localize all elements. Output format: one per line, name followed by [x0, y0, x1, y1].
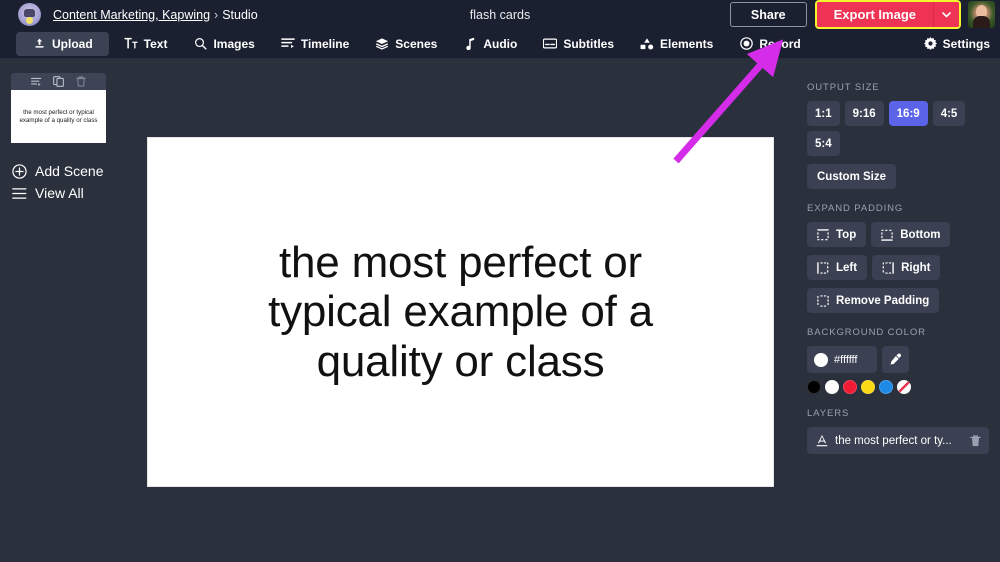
- padding-left-icon: [817, 262, 829, 274]
- record-icon: [739, 37, 753, 51]
- kapwing-studio-app: Content Marketing, Kapwing›Studio flash …: [0, 0, 1000, 562]
- padding-left-button[interactable]: Left: [807, 255, 867, 280]
- canvas-area: the most perfect or typical example of a…: [123, 60, 797, 562]
- swatch-red[interactable]: [843, 380, 857, 394]
- breadcrumb-separator: ›: [214, 8, 218, 22]
- plus-circle-icon: [12, 164, 27, 179]
- ratio-4-5[interactable]: 4:5: [933, 101, 966, 126]
- padding-row-3: Remove Padding: [807, 288, 1000, 313]
- export-image-group[interactable]: Export Image: [815, 0, 961, 29]
- custom-size-row: Custom Size: [807, 164, 1000, 189]
- canvas-text-layer[interactable]: the most perfect or typical example of a…: [241, 238, 681, 386]
- padding-bottom-icon: [881, 229, 893, 241]
- editor-canvas[interactable]: the most perfect or typical example of a…: [148, 138, 773, 486]
- scene-settings-icon[interactable]: [31, 76, 42, 87]
- scene-card[interactable]: the most perfect or typical example of a…: [11, 73, 106, 143]
- tool-elements-label: Elements: [660, 37, 713, 51]
- top-bar: Content Marketing, Kapwing›Studio flash …: [0, 0, 1000, 29]
- tool-text[interactable]: Text: [113, 32, 179, 56]
- ratio-9-16[interactable]: 9:16: [845, 101, 884, 126]
- scene-card-toolbar: [11, 73, 106, 90]
- shapes-icon: [640, 37, 654, 51]
- right-properties-panel: Output Size 1:1 9:16 16:9 4:5 5:4 Custom…: [797, 60, 1000, 562]
- eyedropper-button[interactable]: [882, 346, 909, 373]
- output-size-label: Output Size: [807, 82, 1000, 93]
- layers-label: Layers: [807, 408, 1000, 419]
- color-swatch-list: [807, 380, 1000, 394]
- settings-button[interactable]: Settings: [924, 37, 990, 51]
- padding-right-button[interactable]: Right: [872, 255, 940, 280]
- padding-row-2: Left Right: [807, 255, 1000, 280]
- add-scene-button[interactable]: Add Scene: [12, 163, 104, 179]
- layer-item[interactable]: the most perfect or ty...: [807, 427, 989, 454]
- padding-right-label: Right: [901, 262, 930, 274]
- padding-top-label: Top: [836, 229, 856, 241]
- tool-timeline[interactable]: Timeline: [270, 32, 360, 56]
- main-toolbar: Upload Text Images Timeline Scenes: [0, 29, 1000, 59]
- timeline-icon: [281, 37, 295, 51]
- breadcrumb: Content Marketing, Kapwing›Studio: [53, 8, 258, 22]
- music-note-icon: [463, 37, 477, 51]
- search-icon: [193, 37, 207, 51]
- tool-record[interactable]: Record: [728, 32, 811, 56]
- tool-record-label: Record: [759, 37, 800, 51]
- background-color-input[interactable]: #ffffff: [807, 346, 877, 373]
- ratio-1-1[interactable]: 1:1: [807, 101, 840, 126]
- tool-subtitles-label: Subtitles: [563, 37, 614, 51]
- trash-icon[interactable]: [75, 76, 86, 87]
- padding-right-icon: [882, 262, 894, 274]
- eyedropper-icon: [889, 353, 902, 366]
- scene-thumbnail-text: the most perfect or typical example of a…: [13, 109, 104, 125]
- expand-padding-label: Expand Padding: [807, 203, 1000, 214]
- ratio-5-4[interactable]: 5:4: [807, 131, 840, 156]
- share-button[interactable]: Share: [730, 2, 807, 27]
- upload-icon: [32, 37, 46, 51]
- background-color-controls: #ffffff: [807, 346, 1000, 373]
- padding-bottom-label: Bottom: [900, 229, 940, 241]
- export-image-button[interactable]: Export Image: [817, 2, 933, 27]
- tool-audio-label: Audio: [483, 37, 517, 51]
- tool-upload-label: Upload: [52, 37, 93, 51]
- layer-item-name: the most perfect or ty...: [835, 435, 962, 447]
- subtitles-icon: [543, 37, 557, 51]
- user-avatar[interactable]: [968, 1, 995, 28]
- swatch-blue[interactable]: [879, 380, 893, 394]
- swatch-white[interactable]: [825, 380, 839, 394]
- left-scenes-panel: the most perfect or typical example of a…: [0, 60, 123, 562]
- gear-icon: [924, 37, 937, 50]
- tool-timeline-label: Timeline: [301, 37, 349, 51]
- output-size-ratios: 1:1 9:16 16:9 4:5 5:4: [807, 101, 1000, 156]
- padding-bottom-button[interactable]: Bottom: [871, 222, 950, 247]
- custom-size-button[interactable]: Custom Size: [807, 164, 896, 189]
- text-icon: [124, 37, 138, 51]
- duplicate-icon[interactable]: [53, 76, 64, 87]
- padding-row-1: Top Bottom: [807, 222, 1000, 247]
- swatch-yellow[interactable]: [861, 380, 875, 394]
- text-layer-icon: [815, 434, 828, 447]
- tool-subtitles[interactable]: Subtitles: [532, 32, 625, 56]
- add-scene-label: Add Scene: [35, 163, 104, 179]
- view-all-button[interactable]: View All: [12, 185, 84, 201]
- padding-left-label: Left: [836, 262, 857, 274]
- remove-padding-label: Remove Padding: [836, 295, 929, 307]
- tool-text-label: Text: [144, 37, 168, 51]
- background-color-value: #ffffff: [834, 354, 857, 366]
- layers-icon: [375, 37, 389, 51]
- background-color-swatch: [814, 353, 828, 367]
- top-bar-actions: Share Export Image: [730, 0, 1000, 29]
- ratio-16-9[interactable]: 16:9: [889, 101, 928, 126]
- breadcrumb-workspace[interactable]: Content Marketing, Kapwing: [53, 8, 210, 22]
- tool-audio[interactable]: Audio: [452, 32, 528, 56]
- remove-padding-button[interactable]: Remove Padding: [807, 288, 939, 313]
- view-all-label: View All: [35, 185, 84, 201]
- settings-label: Settings: [943, 37, 990, 51]
- trash-icon[interactable]: [969, 434, 981, 447]
- scene-thumbnail[interactable]: the most perfect or typical example of a…: [11, 90, 106, 143]
- background-color-label: Background Color: [807, 327, 1000, 338]
- chevron-down-icon[interactable]: [933, 2, 959, 27]
- padding-top-button[interactable]: Top: [807, 222, 866, 247]
- kapwing-logo-icon[interactable]: [18, 3, 41, 26]
- swatch-transparent[interactable]: [897, 380, 911, 394]
- tool-images-label: Images: [213, 37, 254, 51]
- padding-remove-icon: [817, 295, 829, 307]
- tool-upload[interactable]: Upload: [16, 32, 109, 56]
- padding-top-icon: [817, 229, 829, 241]
- tool-images[interactable]: Images: [182, 32, 265, 56]
- tool-scenes-label: Scenes: [395, 37, 437, 51]
- tool-scenes[interactable]: Scenes: [364, 32, 448, 56]
- swatch-black[interactable]: [807, 380, 821, 394]
- tool-elements[interactable]: Elements: [629, 32, 724, 56]
- list-icon: [12, 187, 27, 200]
- breadcrumb-current[interactable]: Studio: [222, 8, 257, 22]
